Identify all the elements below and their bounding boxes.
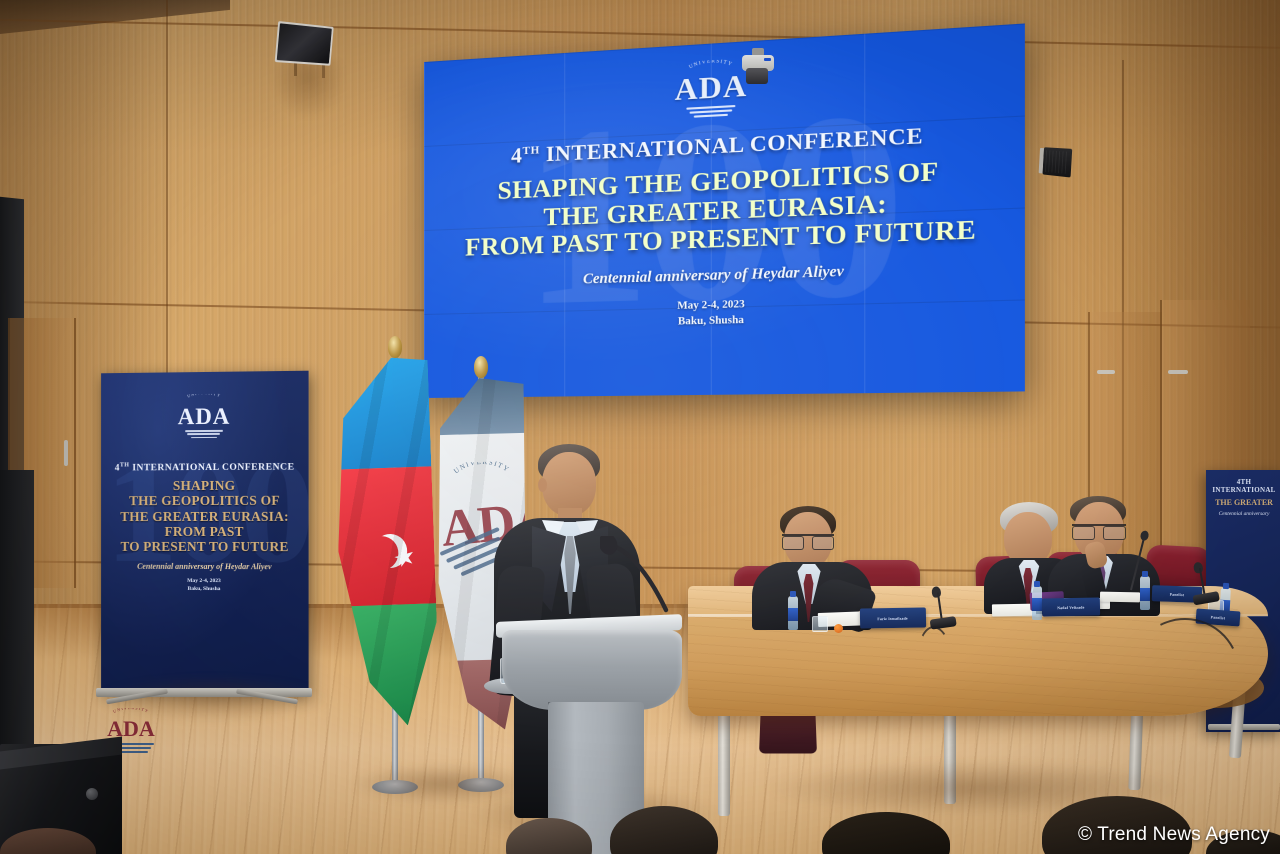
drinking-glass [812,616,828,632]
ptz-camera-icon [740,48,776,88]
wall-mounted-monitor [275,21,334,66]
slide-date: May 2-4, 2023 [677,296,745,314]
flagpole-finial-icon [474,356,488,378]
banner-title: SHAPING THE GEOPOLITICS OF THE GREATER E… [109,478,301,555]
water-bottle [788,596,798,630]
banner-title-line-4: FROM PAST [109,524,301,539]
led-video-wall: 100 UNIVERSITY ADA 4TH INTERNATIONAL CON… [424,23,1025,398]
rollup-banner-left: 100 UNIVERSITY ADA 4TH INTERNATIONAL CON… [101,371,309,694]
camera-lens-icon [746,68,768,84]
banner-right-title: THE GREATER [1206,498,1280,507]
ada-logo-waves-icon [185,430,223,440]
camera-led-indicator [764,58,771,61]
banner-title-line-2: THE GEOPOLITICS OF [109,493,301,509]
banner-location: Baku, Shusha [109,585,301,594]
banner-ordinal-suffix: TH [120,462,130,468]
speaker-grille [1045,150,1069,174]
bottle-label [1032,598,1042,611]
flagpole-finial-icon [388,336,402,358]
banner-title-line-3: THE GREATER EURASIA: [109,509,301,525]
banner-title-line-1: SHAPING [109,478,301,494]
banner-right-subtitle: Centennial anniversary [1206,511,1280,517]
svg-text:UNIVERSITY: UNIVERSITY [186,394,221,399]
banner-right-line1: 4TH INTERNATIONAL [1206,478,1280,494]
door-handle-icon[interactable] [1168,370,1188,374]
paper-document [1100,592,1140,603]
banner-right-base [1208,724,1280,730]
banner-date-location: May 2-4, 2023 Baku, Shusha [109,576,301,594]
banner-content: UNIVERSITY ADA 4TH INTERNATIONAL CONFERE… [101,371,309,694]
slide-content: UNIVERSITY ADA 4TH INTERNATIONAL CONFERE… [424,23,1025,398]
conference-photo: 100 UNIVERSITY ADA 4TH INTERNATIONAL CON… [0,0,1280,854]
banner-conference-line: 4TH INTERNATIONAL CONFERENCE [109,461,301,473]
slide-location: Baku, Shusha [677,312,745,329]
door-handle-icon[interactable] [64,440,68,466]
ada-logo-waves-icon [686,105,735,120]
bottle-label [1140,588,1150,601]
copyright-watermark: © Trend News Agency [1078,824,1270,846]
nameplate-text: Nadaf Velizade [1057,604,1084,609]
water-bottle [1032,586,1042,620]
speaker-knob-icon[interactable] [86,788,98,800]
ada-logo-wordmark: ADA [165,404,243,431]
podium-mic-svg [600,536,696,628]
eyeglasses-icon [1072,524,1126,537]
nameplate-text: Panelist [1211,615,1226,621]
banner-title-line-5: TO PRESENT TO FUTURE [109,539,301,555]
eyeglasses-icon [782,534,834,547]
podium-microphone-icon [600,536,696,628]
svg-text:UNIVERSITY: UNIVERSITY [112,708,150,714]
svg-text:UNIVERSITY: UNIVERSITY [688,58,733,71]
podium-body [502,630,682,710]
slide-ordinal-suffix: TH [523,144,540,157]
ear [538,478,547,492]
monitor-screen [277,23,332,63]
wall-speaker-icon [1042,147,1072,177]
slide-date-location: May 2-4, 2023 Baku, Shusha [677,296,745,329]
water-bottle [1140,576,1150,610]
monitor-shadow [272,60,344,118]
door-handle-icon[interactable] [1097,370,1115,374]
banner-subtitle: Centennial anniversary of Heydar Aliyev [109,561,301,571]
nameplate: Fariz Ismailzade [860,607,926,628]
bottle-label [788,608,798,621]
slide-title: SHAPING THE GEOPOLITICS OF THE GREATER E… [465,155,976,261]
nameplate: Nadaf Velizade [1042,597,1100,616]
small-object [834,624,843,633]
podium-logo-arc-svg: UNIVERSITY [96,708,166,734]
head [542,452,596,516]
dark-column-left [0,470,34,760]
nameplate-text: Panelist [1170,591,1185,596]
slide-subtitle: Centennial anniversary of Heydar Aliyev [583,263,844,288]
ada-university-logo-icon: UNIVERSITY ADA [165,396,243,449]
nameplate-text: Fariz Ismailzade [878,615,909,620]
